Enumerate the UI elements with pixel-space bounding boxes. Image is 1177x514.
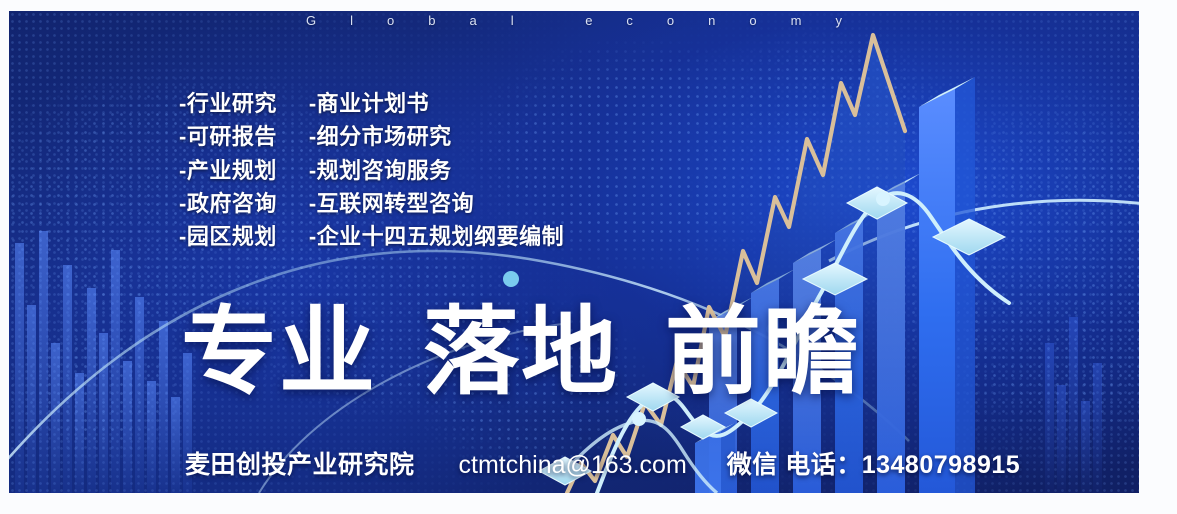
curve-node-dot — [876, 192, 890, 206]
service-item: -园区规划 — [179, 222, 277, 251]
footer-contact-row: 麦田创投产业研究院 ctmtchina@163.com 微信 电话：134807… — [185, 445, 1020, 481]
service-item: -产业规划 — [179, 156, 277, 185]
slogan-word-3: 前瞻 — [665, 299, 861, 406]
service-item: -企业十四五规划纲要编制 — [309, 222, 564, 251]
chart-artwork — [9, 11, 1139, 493]
services-column-right: -商业计划书 -细分市场研究 -规划咨询服务 -互联网转型咨询 -企业十四五规划… — [309, 89, 564, 251]
company-name: 麦田创投产业研究院 — [185, 445, 415, 481]
banner-root: Global economy -行业研究 -可研报告 -产业规划 -政府咨询 -… — [0, 0, 1177, 514]
slogan-word-1: 专业 — [181, 299, 377, 406]
service-item: -可研报告 — [179, 122, 277, 151]
services-column-left: -行业研究 -可研报告 -产业规划 -政府咨询 -园区规划 — [179, 89, 277, 251]
poster-canvas: Global economy -行业研究 -可研报告 -产业规划 -政府咨询 -… — [9, 11, 1139, 493]
phone-contact: 微信 电话：13480798915 — [727, 445, 1020, 481]
service-item: -互联网转型咨询 — [309, 189, 564, 218]
slogan-word-2: 落地 — [423, 299, 619, 406]
service-item: -商业计划书 — [309, 89, 564, 118]
service-item: -行业研究 — [179, 89, 277, 118]
globe-node-dot — [503, 271, 519, 287]
service-item: -政府咨询 — [179, 189, 277, 218]
service-item: -规划咨询服务 — [309, 156, 564, 185]
service-item: -细分市场研究 — [309, 122, 564, 151]
curve-node-dot — [632, 412, 646, 426]
slogan-headline: 专业落地前瞻 — [181, 305, 861, 401]
email-address: ctmtchina@163.com — [459, 451, 687, 480]
services-list: -行业研究 -可研报告 -产业规划 -政府咨询 -园区规划 -商业计划书 -细分… — [179, 89, 564, 251]
header-global-economy: Global economy — [9, 13, 1139, 39]
